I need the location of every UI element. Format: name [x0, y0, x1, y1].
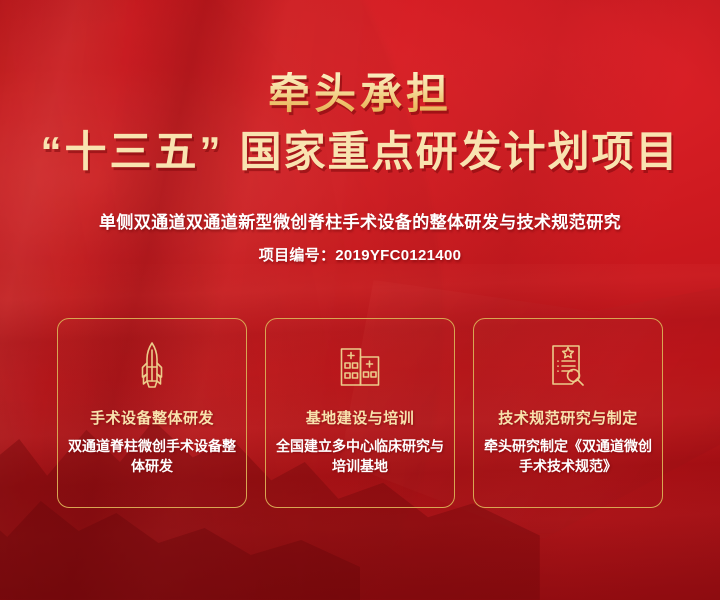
headline-secondary: “十三五”国家重点研发计划项目: [0, 128, 720, 175]
document-search-icon: [545, 341, 591, 391]
feature-card-title: 手术设备整体研发: [90, 407, 214, 428]
headline-program-name: 国家重点研发计划项目: [240, 128, 680, 175]
headline-primary: 牵头承担: [0, 72, 720, 116]
feature-card-title: 基地建设与培训: [306, 407, 415, 428]
feature-card-description: 牵头研究制定《双通道微创手术技术规范》: [474, 436, 662, 477]
rocket-icon: [129, 341, 175, 391]
feature-card-description: 双通道脊柱微创手术设备整体研发: [58, 436, 246, 477]
feature-card-description: 全国建立多中心临床研究与培训基地: [266, 436, 454, 477]
feature-card[interactable]: 技术规范研究与制定 牵头研究制定《双通道微创手术技术规范》: [473, 318, 663, 508]
banner-content: 牵头承担 “十三五”国家重点研发计划项目 单侧双通道双通道新型微创脊柱手术设备的…: [0, 0, 720, 600]
feature-card-title: 技术规范研究与制定: [498, 407, 638, 428]
feature-card[interactable]: 手术设备整体研发 双通道脊柱微创手术设备整体研发: [57, 318, 247, 508]
title-block: 牵头承担 “十三五”国家重点研发计划项目: [0, 72, 720, 175]
feature-card-list: 手术设备整体研发 双通道脊柱微创手术设备整体研发: [57, 318, 663, 508]
hospital-icon: [337, 341, 383, 391]
feature-card[interactable]: 基地建设与培训 全国建立多中心临床研究与培训基地: [265, 318, 455, 508]
project-subtitle: 单侧双通道双通道新型微创脊柱手术设备的整体研发与技术规范研究: [0, 208, 720, 233]
promo-banner: 牵头承担 “十三五”国家重点研发计划项目 单侧双通道双通道新型微创脊柱手术设备的…: [0, 0, 720, 600]
headline-plan-name: “十三五”: [40, 128, 223, 175]
project-number: 项目编号：2019YFC0121400: [0, 244, 720, 265]
